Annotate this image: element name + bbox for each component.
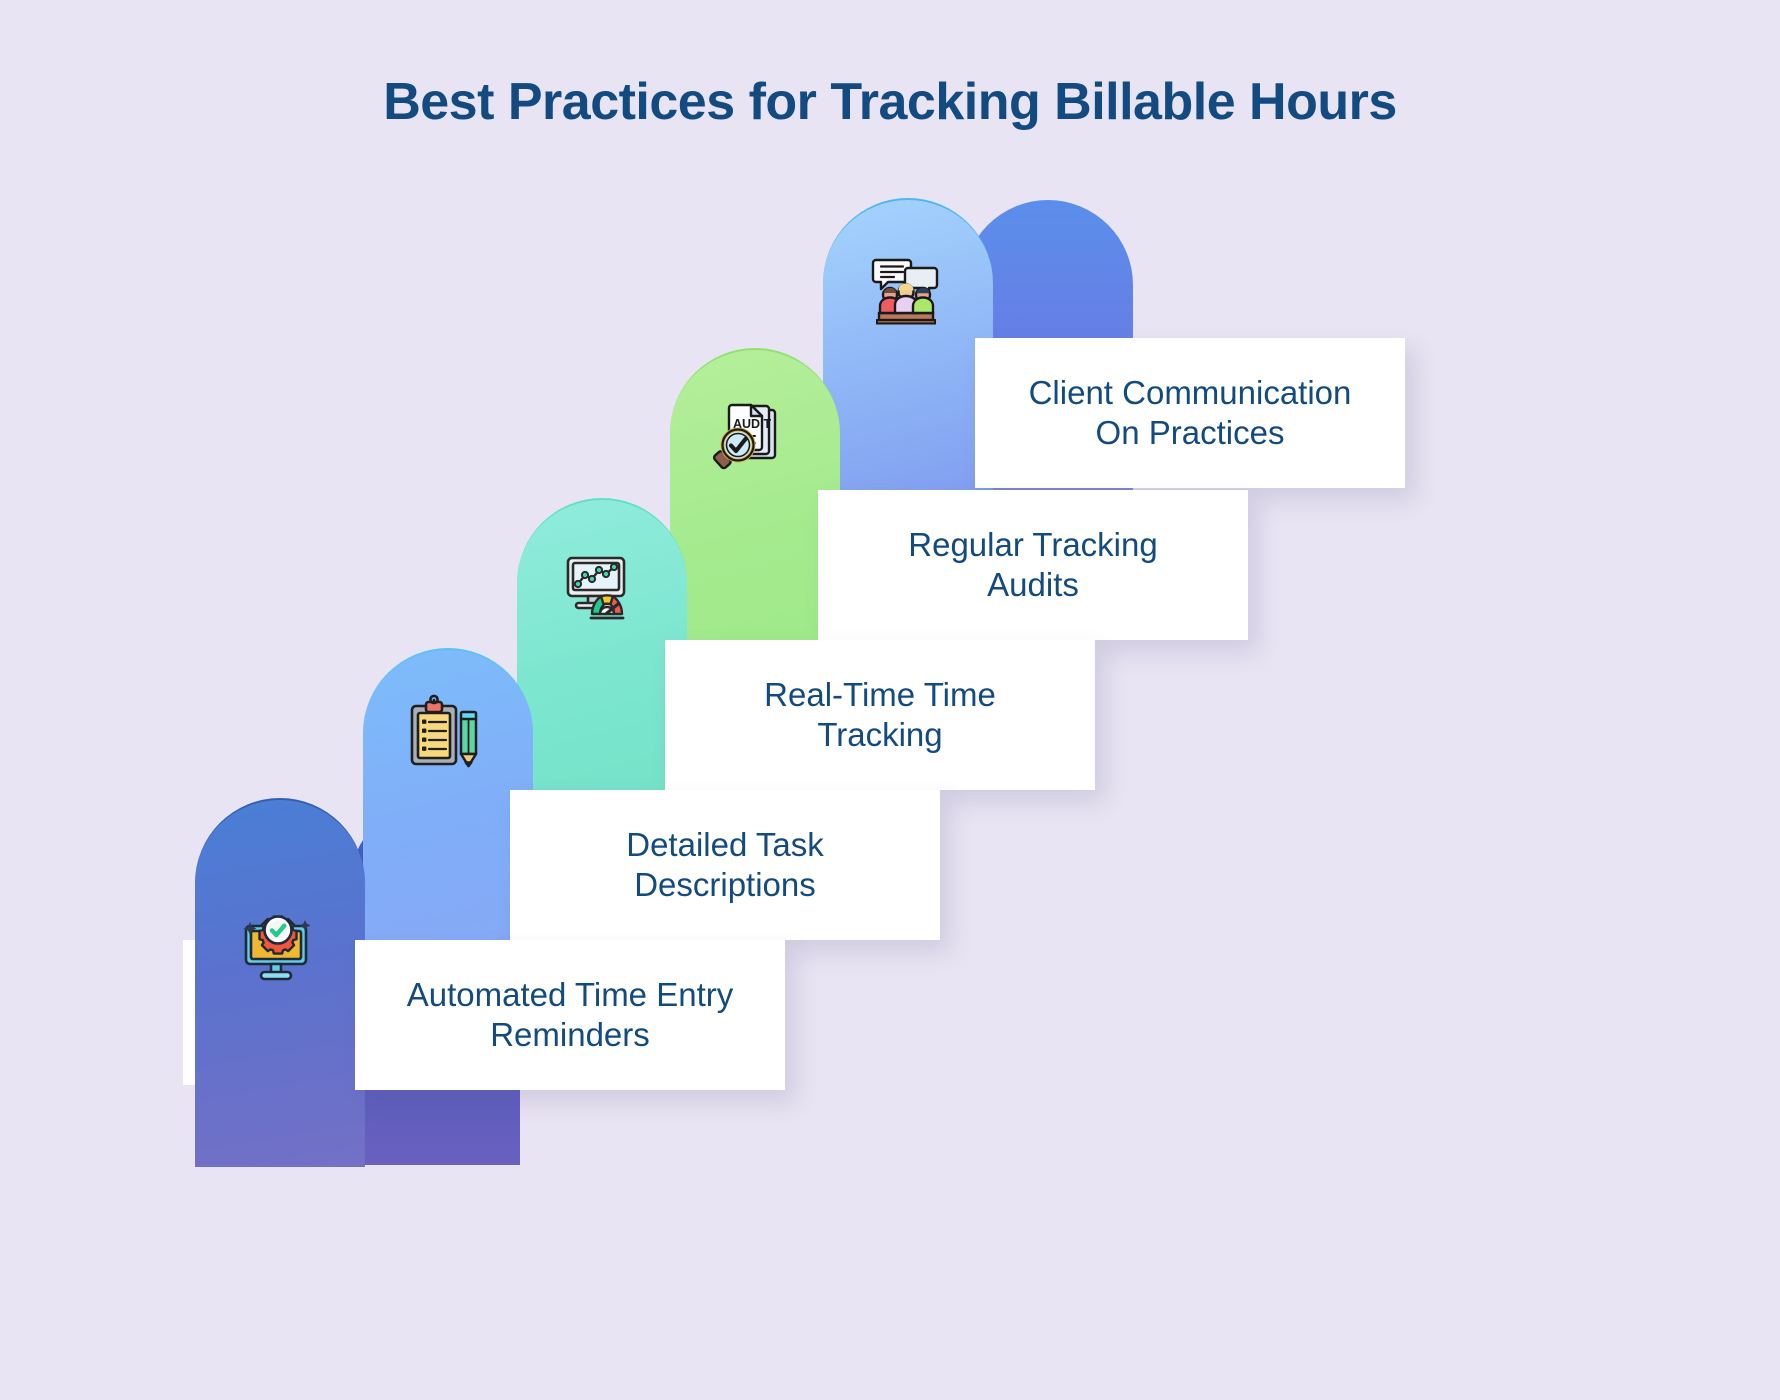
step-4-icon	[404, 692, 488, 776]
step-2-icon: AUDIT	[711, 392, 795, 476]
step-3-label: Real-Time Time Tracking	[665, 675, 1095, 756]
step-3-label-line1: Real-Time Time	[764, 676, 996, 713]
step-4-label-line2: Descriptions	[634, 866, 816, 903]
clipboard-checklist-pencil-icon	[404, 692, 488, 776]
step-1-label-line1: Client Communication	[1029, 374, 1352, 411]
step-1-label-line2: On Practices	[1096, 414, 1285, 451]
step-5-label: Automated Time Entry Reminders	[355, 975, 785, 1056]
step-5-label-line1: Automated Time Entry	[407, 976, 733, 1013]
monitor-gear-check-icon	[236, 900, 320, 984]
step-3-label-line2: Tracking	[817, 716, 942, 753]
step-4-label-line1: Detailed Task	[626, 826, 824, 863]
step-2-label-line2: Audits	[987, 566, 1079, 603]
step-3-icon	[558, 542, 642, 626]
step-2-label: Regular Tracking Audits	[818, 525, 1248, 606]
step-2-label-line1: Regular Tracking	[908, 526, 1157, 563]
step-3-panel[interactable]: Real-Time Time Tracking	[665, 640, 1095, 790]
people-discussion-icon	[864, 242, 948, 326]
monitor-gauge-analytics-icon	[558, 542, 642, 626]
audit-document-magnifier-icon: AUDIT	[711, 392, 795, 476]
step-4-label: Detailed Task Descriptions	[510, 825, 940, 906]
step-1-label: Client Communication On Practices	[975, 373, 1405, 454]
page-title: Best Practices for Tracking Billable Hou…	[0, 72, 1780, 132]
step-2-panel[interactable]: Regular Tracking Audits	[818, 490, 1248, 640]
infographic-canvas: Best Practices for Tracking Billable Hou…	[0, 0, 1780, 1400]
step-1-icon	[864, 242, 948, 326]
step-4-panel[interactable]: Detailed Task Descriptions	[510, 790, 940, 940]
step-5-icon	[236, 900, 320, 984]
step-5-panel[interactable]: Automated Time Entry Reminders	[355, 940, 785, 1090]
step-1-panel[interactable]: Client Communication On Practices	[975, 338, 1405, 488]
step-5-label-line2: Reminders	[490, 1016, 650, 1053]
